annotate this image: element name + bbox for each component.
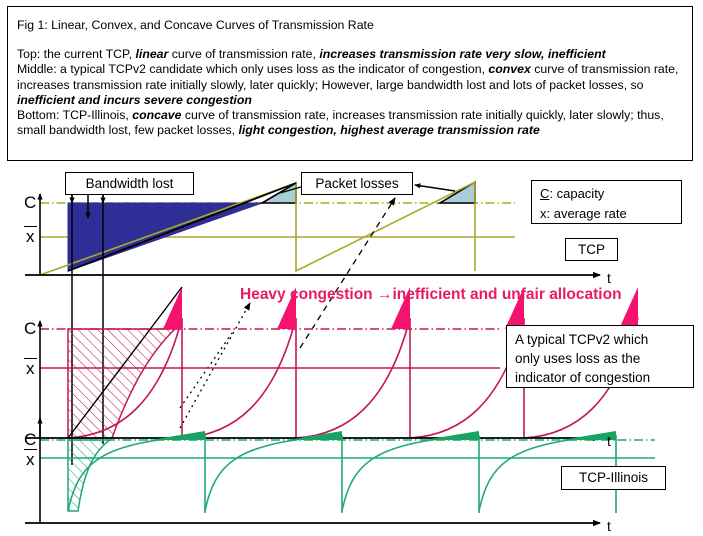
legend-rate-row: x: average rate (540, 204, 673, 224)
convex-curve-3 (296, 318, 410, 438)
bandwidth-lost-callout: Bandwidth lost (65, 172, 194, 195)
packet-losses-arrow-dotted-2 (180, 333, 232, 408)
tcp-label-callout: TCP (565, 238, 618, 261)
packet-losses-callout: Packet losses (301, 172, 413, 195)
legend-capacity-symbol: C (540, 186, 549, 201)
legend-box: C: capacity x: average rate (531, 180, 682, 224)
heavy-congestion-annotation: Heavy congestion →inefficient and unfair… (240, 286, 622, 304)
axis-average-label-mid: x (24, 358, 37, 379)
packet-losses-region-mid-5 (619, 287, 638, 329)
axis-average-label-top: x (24, 226, 37, 247)
packet-losses-arrow-dotted-1 (180, 303, 250, 428)
axis-capacity-label-bot: C (24, 430, 36, 450)
panel-tcp-linear (25, 182, 600, 275)
concave-curve-3 (342, 437, 454, 511)
tcpv2-description-callout: A typical TCPv2 which only uses loss as … (506, 325, 694, 388)
convex-curve-2 (182, 318, 296, 438)
caption-line-2: Middle: a typical TCPv2 candidate which … (17, 62, 683, 108)
legend-capacity-row: C: capacity (540, 184, 673, 204)
figure-caption-title: Fig 1: Linear, Convex, and Concave Curve… (17, 18, 683, 33)
concave-curve-2 (205, 437, 317, 511)
axis-time-label-top: t (607, 270, 611, 286)
caption-line-1: Top: the current TCP, linear curve of tr… (17, 47, 683, 62)
legend-rate-text: : average rate (547, 206, 627, 221)
axis-time-label-mid: t (607, 433, 611, 449)
axis-average-label-bot: x (24, 449, 37, 470)
packet-losses-arrow-top2 (415, 185, 455, 191)
legend-capacity-text: : capacity (549, 186, 604, 201)
figure-caption-box: Fig 1: Linear, Convex, and Concave Curve… (7, 6, 693, 161)
axis-capacity-label-top: C (24, 193, 36, 213)
packet-losses-arrow-mid-dashed (300, 198, 395, 348)
bandwidth-lost-region-bot (68, 440, 110, 511)
tcp-illinois-label-callout: TCP-Illinois (561, 466, 666, 490)
tcpv2-line-1: A typical TCPv2 which (515, 330, 685, 349)
axis-capacity-label-mid: C (24, 319, 36, 339)
tcpv2-line-2: only uses loss as the (515, 349, 685, 368)
tcpv2-line-3: indicator of congestion (515, 368, 685, 387)
caption-line-3: Bottom: TCP-Illinois, concave curve of t… (17, 108, 683, 138)
figure-caption-body: Top: the current TCP, linear curve of tr… (17, 47, 683, 138)
axis-time-label-bot: t (607, 518, 611, 534)
